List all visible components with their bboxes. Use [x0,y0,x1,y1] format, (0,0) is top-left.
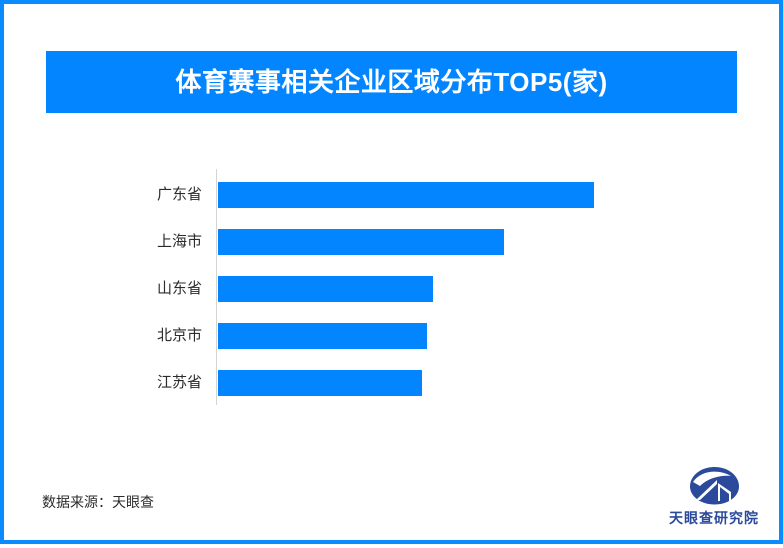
source-note: 数据来源：天眼查 [42,492,154,512]
infographic-canvas: 体育赛事相关企业区域分布TOP5(家) 广东省 上海市 山东省 北京市 江苏省 … [0,0,783,544]
logo-text: 天眼查研究院 [659,508,769,528]
chart-row: 北京市 [4,323,783,349]
bar-3 [218,276,433,302]
chart-row: 山东省 [4,276,783,302]
eagle-eye-icon [687,466,742,506]
bar-5 [218,370,422,396]
chart-row: 江苏省 [4,370,783,396]
logo: 天眼查研究院 [659,466,769,532]
category-label-5: 江苏省 [64,370,202,396]
category-label-4: 北京市 [64,323,202,349]
chart-row: 上海市 [4,229,783,255]
chart-row: 广东省 [4,182,783,208]
bar-1 [218,182,594,208]
category-label-2: 上海市 [64,229,202,255]
bar-2 [218,229,504,255]
category-label-3: 山东省 [64,276,202,302]
bar-4 [218,323,427,349]
category-label-1: 广东省 [64,182,202,208]
